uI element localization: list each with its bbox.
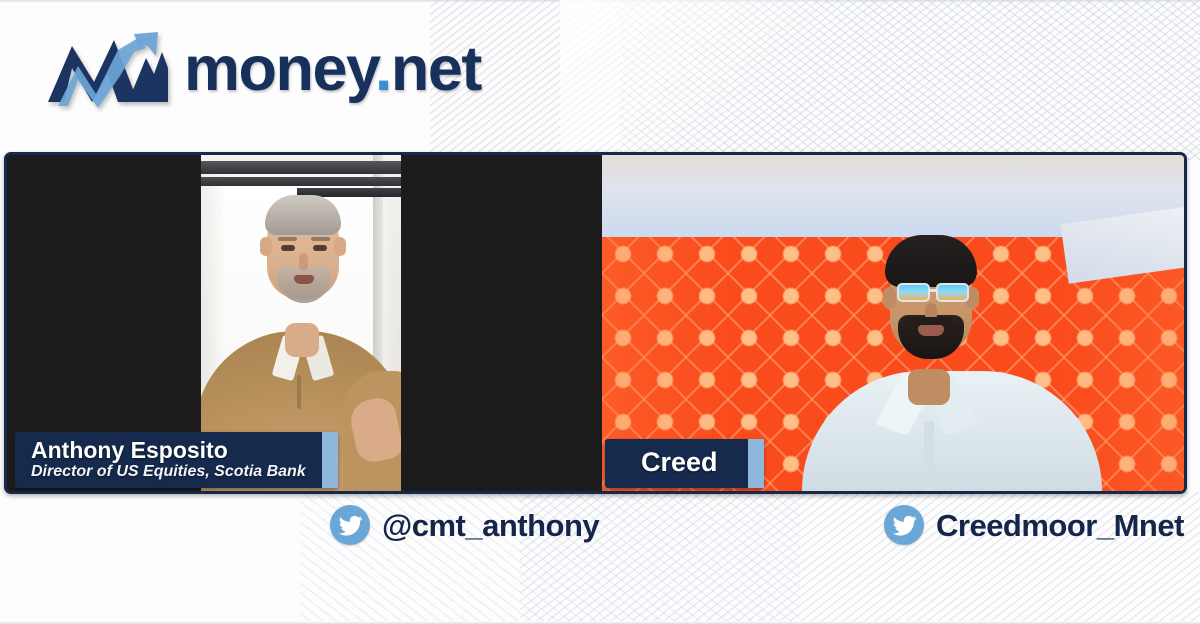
background-hatch-top-right xyxy=(430,0,1200,160)
participant-sweater-zip xyxy=(297,375,301,409)
lower-third-anthony: Anthony Esposito Director of US Equities… xyxy=(15,432,338,488)
participant-ear xyxy=(883,287,896,309)
participant-hair xyxy=(885,235,977,287)
money-net-m-chart-logo-icon xyxy=(42,22,170,110)
participant-title: Director of US Equities, Scotia Bank xyxy=(31,463,306,481)
participant-neck xyxy=(908,369,950,405)
background-top-edge xyxy=(0,0,1200,3)
window-blind-slat xyxy=(201,161,401,174)
participant-eyeglass-lens xyxy=(936,283,969,302)
brand-name-tld: net xyxy=(391,34,481,104)
participant-hair xyxy=(265,195,341,235)
background-hatch-top-right-cross xyxy=(620,0,1200,160)
social-handle-text: @cmt_anthony xyxy=(382,510,599,541)
lower-third-creed: Creed xyxy=(605,439,764,488)
lower-third-text-block: Creed xyxy=(605,439,748,488)
video-pane-right[interactable]: Creed xyxy=(602,155,1184,491)
participant-eye xyxy=(313,245,327,251)
video-pane-left[interactable]: Anthony Esposito Director of US Equities… xyxy=(7,155,602,491)
participant-eyebrow xyxy=(311,237,330,241)
brand-name-dot: . xyxy=(375,34,391,104)
participant-nose xyxy=(299,253,308,271)
participant-eyeglass-bridge xyxy=(929,289,938,292)
participant-eyebrow xyxy=(278,237,297,241)
participant-ear xyxy=(334,237,346,256)
social-handle-creed[interactable]: Creedmoor_Mnet xyxy=(884,505,1184,545)
window-blind-slat xyxy=(201,177,401,186)
participant-mouth xyxy=(294,275,314,284)
social-handle-text: Creedmoor_Mnet xyxy=(936,510,1184,541)
social-handle-anthony[interactable]: @cmt_anthony xyxy=(330,505,599,545)
participant-ear xyxy=(260,237,272,256)
participant-shirt-placket xyxy=(924,421,934,491)
participant-name: Anthony Esposito xyxy=(31,438,306,463)
background-light-wedge xyxy=(560,0,860,150)
participant-eye xyxy=(281,245,295,251)
lower-third-text-block: Anthony Esposito Director of US Equities… xyxy=(15,432,322,488)
participant-mouth xyxy=(918,325,944,336)
lower-third-accent-bar xyxy=(322,432,338,488)
lower-third-accent-bar xyxy=(748,439,764,488)
brand-name-main: money xyxy=(184,34,375,104)
video-call-frame: Anthony Esposito Director of US Equities… xyxy=(4,152,1187,494)
twitter-bird-icon[interactable] xyxy=(884,505,924,545)
brand-wordmark: money.net xyxy=(184,38,481,101)
twitter-bird-icon[interactable] xyxy=(330,505,370,545)
participant-name: Creed xyxy=(641,448,718,477)
participant-neck xyxy=(285,323,319,357)
broadcast-stage: money.net xyxy=(0,0,1200,624)
brand-logo: money.net xyxy=(42,22,481,110)
participant-eyeglass-lens xyxy=(897,283,930,302)
